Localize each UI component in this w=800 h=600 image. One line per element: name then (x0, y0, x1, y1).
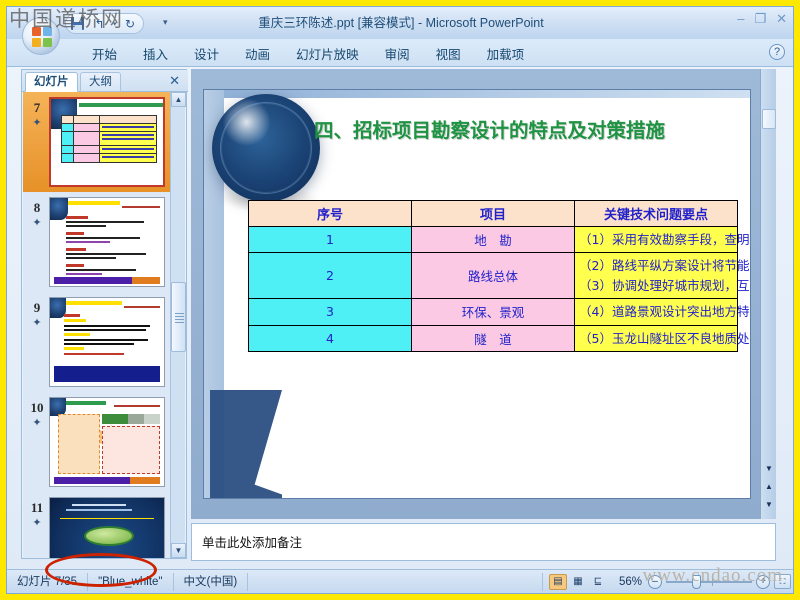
key-point: （4）道路景观设计突出地方特色，提高旅游点知名度 (579, 302, 733, 321)
view-slideshow-button[interactable]: ⊑ (589, 574, 607, 590)
cell-item: 隧 道 (412, 325, 575, 351)
key-point: （2）路线平纵方案设计将节能减排置于优先地位 (579, 256, 733, 275)
orb-square-blue (43, 27, 52, 36)
cell-key: （4）道路景观设计突出地方特色，提高旅游点知名度 (575, 299, 738, 325)
thumbnail-slide-9[interactable]: 9 ✦ (23, 292, 171, 392)
thumbnail-number: 9 (27, 300, 47, 316)
thumbnail-animation-icon: ✦ (27, 316, 47, 329)
zoom-tick (712, 577, 713, 586)
save-icon[interactable] (69, 15, 86, 32)
header-key: 关键技术问题要点 (575, 201, 738, 227)
view-normal-button[interactable]: ▤ (549, 574, 567, 590)
header-no: 序号 (249, 201, 412, 227)
thumbnail-number: 7 (27, 100, 47, 116)
globe-icon (212, 94, 320, 202)
cell-no: 3 (249, 299, 412, 325)
redo-icon[interactable]: ↻ (122, 15, 139, 32)
scrollbar-thumb[interactable] (171, 282, 186, 352)
table-row: 4 隧 道 （5）玉龙山隧址区不良地质处理 (249, 325, 738, 351)
tab-animation[interactable]: 动画 (232, 39, 283, 67)
thumbnail-preview (49, 397, 165, 487)
cell-item: 环保、景观 (412, 299, 575, 325)
office-button[interactable] (22, 17, 60, 55)
restore-button[interactable]: ❐ (754, 12, 766, 26)
table-row: 2 路线总体 （2）路线平纵方案设计将节能减排置于优先地位 （3）协调处理好城市… (249, 253, 738, 299)
zoom-track[interactable] (666, 581, 752, 583)
cell-key: （2）路线平纵方案设计将节能减排置于优先地位 （3）协调处理好城市规划，互通方案… (575, 253, 738, 299)
powerpoint-window: 重庆三环陈述.ppt [兼容模式] - Microsoft PowerPoint… (6, 6, 794, 594)
close-panel-icon[interactable]: ✕ (169, 73, 180, 89)
slide-curve-decoration (210, 390, 282, 499)
tab-outline[interactable]: 大纲 (80, 72, 121, 92)
undo-dropdown-icon[interactable]: ▾ (113, 20, 117, 28)
cell-no: 2 (249, 253, 412, 299)
status-spacer (248, 573, 543, 591)
tab-home[interactable]: 开始 (79, 39, 130, 67)
fit-to-window-button[interactable]: ⛶ (774, 574, 791, 589)
slides-panel-tabs: 幻灯片 大纲 ✕ (22, 70, 188, 92)
cell-no: 1 (249, 227, 412, 253)
thumbnail-preview (49, 297, 165, 387)
tab-design[interactable]: 设计 (181, 39, 232, 67)
customize-qat-icon[interactable]: ▾ (163, 17, 168, 28)
thumbnail-slide-11[interactable]: 11 ✦ (23, 492, 171, 558)
tab-slideshow[interactable]: 幻灯片放映 (283, 39, 372, 67)
status-slide-count[interactable]: 幻灯片 7/35 (7, 573, 88, 591)
undo-icon[interactable]: ↰ (91, 15, 108, 32)
cell-no: 4 (249, 325, 412, 351)
slide-table: 序号 项目 关键技术问题要点 1 地 勘 （1）采用有效勘察手段，查明不良地质 … (248, 200, 738, 352)
tab-view[interactable]: 视图 (423, 39, 474, 67)
cell-item: 地 勘 (412, 227, 575, 253)
slides-panel: 幻灯片 大纲 ✕ 7 ✦ (21, 69, 187, 559)
orb-square-green (43, 38, 52, 47)
mini-title-bar (79, 103, 163, 107)
orb-square-yellow (32, 38, 41, 47)
window-controls: – ❐ ✕ (737, 12, 787, 26)
tab-insert[interactable]: 插入 (130, 39, 181, 67)
slide-title: 四、招标项目勘察设计的特点及对策措施 (314, 114, 734, 143)
mini-table (61, 115, 157, 163)
help-icon[interactable]: ? (769, 44, 785, 60)
tab-review[interactable]: 审阅 (372, 39, 423, 67)
thumbnail-preview (49, 197, 165, 287)
table-row: 3 环保、景观 （4）道路景观设计突出地方特色，提高旅游点知名度 (249, 299, 738, 325)
thumbnail-number: 10 (27, 400, 47, 416)
thumbnail-list: 7 ✦ (23, 92, 171, 558)
table-row: 1 地 勘 （1）采用有效勘察手段，查明不良地质 (249, 227, 738, 253)
scroll-down-icon[interactable]: ▼ (171, 543, 186, 558)
slide-scrollbar[interactable]: ▼ ▲ ▼ (760, 69, 776, 519)
scrollbar-grip-icon (175, 313, 184, 320)
slide-stage: 四、招标项目勘察设计的特点及对策措施 序号 项目 关键技术问题要点 1 地 勘 … (191, 69, 776, 519)
status-theme[interactable]: "Blue_white" (88, 573, 173, 591)
zoom-level[interactable]: 56% (613, 576, 648, 588)
tab-slides[interactable]: 幻灯片 (25, 72, 78, 92)
thumbnail-animation-icon: ✦ (27, 216, 47, 229)
ribbon-tab-bar: 开始 插入 设计 动画 幻灯片放映 审阅 视图 加载项 ? (7, 39, 794, 67)
scroll-down-arrow-icon[interactable]: ▼ (762, 461, 776, 475)
key-point: （3）协调处理好城市规划，互通方案力求合理周到 (579, 276, 733, 295)
tab-addins[interactable]: 加载项 (474, 39, 538, 67)
close-button[interactable]: ✕ (776, 12, 787, 26)
zoom-handle[interactable] (692, 575, 701, 589)
next-slide-icon[interactable]: ▼ (762, 497, 776, 511)
minimize-button[interactable]: – (737, 12, 744, 26)
thumbnail-animation-icon: ✦ (27, 516, 47, 529)
cell-key: （5）玉龙山隧址区不良地质处理 (575, 325, 738, 351)
scroll-up-icon[interactable]: ▲ (171, 92, 186, 107)
title-bar: 重庆三环陈述.ppt [兼容模式] - Microsoft PowerPoint… (7, 7, 794, 39)
cell-item: 路线总体 (412, 253, 575, 299)
view-sorter-button[interactable]: ▦ (569, 574, 587, 590)
previous-slide-icon[interactable]: ▲ (762, 479, 776, 493)
quick-access-toolbar: ↰ ▾ ↻ (65, 13, 144, 34)
key-point: （1）采用有效勘察手段，查明不良地质 (579, 230, 733, 249)
cell-key: （1）采用有效勘察手段，查明不良地质 (575, 227, 738, 253)
zoom-out-button[interactable]: – (648, 575, 662, 589)
slide-scrollbar-thumb[interactable] (762, 109, 776, 129)
thumbnail-preview (49, 497, 165, 558)
thumbnail-slide-8[interactable]: 8 ✦ (23, 192, 171, 292)
view-buttons: ▤ ▦ ⊑ (543, 574, 613, 590)
status-bar: 幻灯片 7/35 "Blue_white" 中文(中国) ▤ ▦ ⊑ 56% –… (7, 569, 794, 593)
thumbnail-animation-icon: ✦ (27, 116, 47, 129)
header-item: 项目 (412, 201, 575, 227)
thumbnail-slide-7[interactable]: 7 ✦ (23, 92, 171, 192)
orb-square-red (32, 27, 41, 36)
zoom-slider[interactable]: – + ⛶ (648, 574, 794, 589)
slides-panel-scrollbar[interactable]: ▲ ▼ (170, 92, 185, 558)
thumbnail-number: 11 (27, 500, 47, 516)
status-language[interactable]: 中文(中国) (174, 573, 249, 591)
thumbnail-number: 8 (27, 200, 47, 216)
slide-top-band (204, 90, 751, 98)
ribbon-tabs: 开始 插入 设计 动画 幻灯片放映 审阅 视图 加载项 (79, 39, 537, 67)
current-slide[interactable]: 四、招标项目勘察设计的特点及对策措施 序号 项目 关键技术问题要点 1 地 勘 … (203, 89, 751, 499)
thumbnail-slide-10[interactable]: 10 ✦ (23, 392, 171, 492)
thumbnail-animation-icon: ✦ (27, 416, 47, 429)
thumbnail-preview (49, 97, 165, 187)
notes-pane[interactable]: 单击此处添加备注 (191, 523, 776, 561)
key-point: （5）玉龙山隧址区不良地质处理 (579, 329, 733, 348)
zoom-in-button[interactable]: + (756, 575, 770, 589)
table-header-row: 序号 项目 关键技术问题要点 (249, 201, 738, 227)
